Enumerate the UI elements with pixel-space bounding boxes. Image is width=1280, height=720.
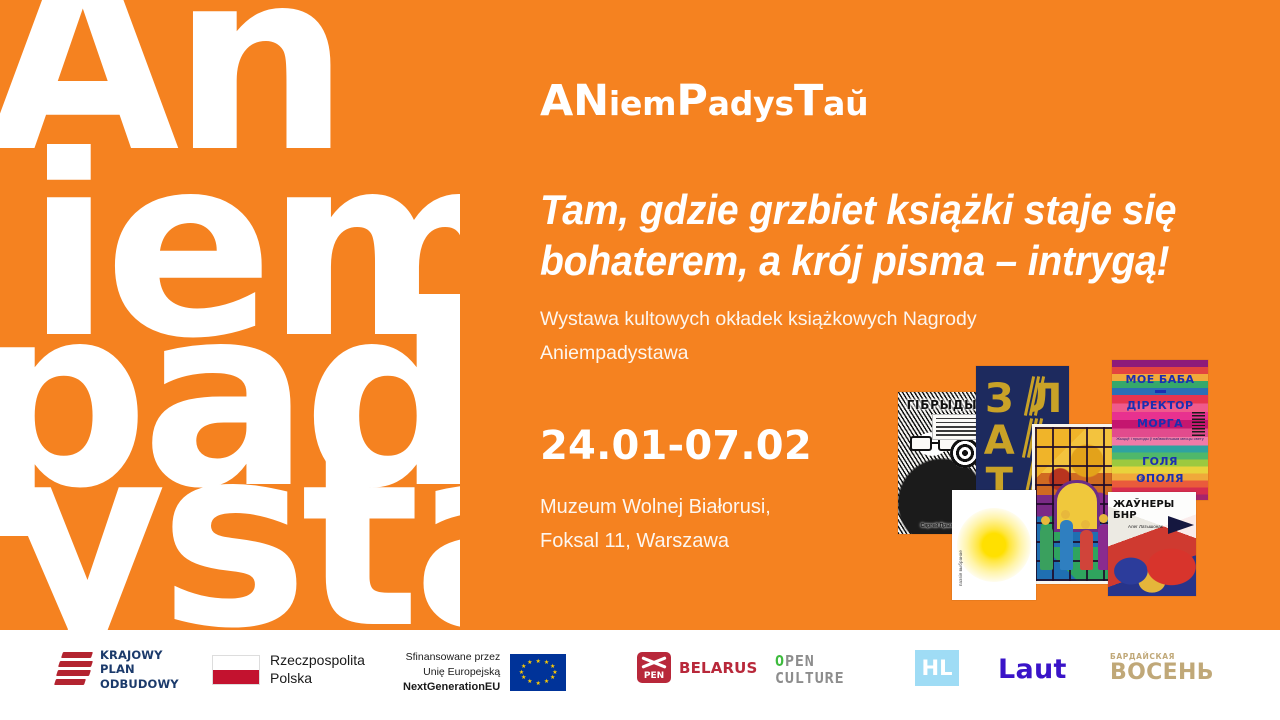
book-cover-moe-baba: МОЕ БАБА ДІРЕКТОР МОРГА Жыццё і прыгоды … xyxy=(1112,360,1208,500)
pen-mark-label: PEN xyxy=(637,671,671,681)
logo-rzeczpospolita-polska: Rzeczpospolita Polska xyxy=(212,652,365,688)
brand-part-2: iem xyxy=(609,84,676,123)
glasses-left-lens xyxy=(910,436,932,451)
figure-head-4 xyxy=(1099,514,1108,523)
book-cover-collage: ГІБРЫДЫ Сяргей Прылуцкі З Л А xyxy=(890,360,1220,620)
brand-part-6: T xyxy=(794,76,823,126)
logo-krajowy-plan-odbudowy: KRAJOWY PLAN ODBUDOWY xyxy=(55,648,179,691)
laut-label: Laut xyxy=(998,654,1067,685)
moe-baba-title-line-2: ДІРЕКТОР xyxy=(1112,399,1208,412)
eu-star-icon: ★ xyxy=(527,679,532,685)
eu-star-icon: ★ xyxy=(550,675,555,681)
figure-2 xyxy=(1060,520,1073,570)
moe-baba-author-line-2: ОПОЛЯ xyxy=(1112,472,1208,485)
brand-part-1: AN xyxy=(540,76,609,126)
eu-star-icon: ★ xyxy=(536,659,541,665)
cover-blurb-block xyxy=(932,414,982,440)
pen-quill-icon: PEN xyxy=(637,652,671,683)
poster-root: An iem pad ystaŭ ANiemPadysTaŭ Tam, gdzi… xyxy=(0,0,1280,720)
hl-label: HL xyxy=(915,650,959,686)
eu-star-icon: ★ xyxy=(521,675,526,681)
hl-icon: HL xyxy=(915,650,959,686)
bv-label: БАРДАЙСКАЯ ВОСЕНЬ xyxy=(1110,652,1214,684)
glasses-bridge xyxy=(932,442,940,444)
brand-logo: ANiemPadysTaŭ xyxy=(540,76,868,126)
eu-star-icon: ★ xyxy=(527,660,532,666)
brand-part-7: aŭ xyxy=(823,84,868,123)
kpo-building-icon xyxy=(55,652,91,686)
headline: Tam, gdzie grzbiet książki staje się boh… xyxy=(540,184,1200,286)
eu-star-icon: ★ xyxy=(521,664,526,670)
pen-belarus-label: BELARUS xyxy=(679,659,757,677)
kpo-label: KRAJOWY PLAN ODBUDOWY xyxy=(100,648,179,691)
bnr-title-line-2: БНР xyxy=(1113,510,1192,521)
oc-o-letter: O xyxy=(775,652,785,670)
moe-baba-blurb: Жыццё і прыгоды ў найвясёлшым месцы свет… xyxy=(1112,436,1208,442)
eu-star-icon: ★ xyxy=(544,679,549,685)
book-cover-zhaunery-bnr: ЖАЎНЕРЫ БНР Алег Латышонак xyxy=(1108,492,1196,596)
background-typography: An iem pad ystaŭ xyxy=(0,0,460,630)
kpo-line-1: KRAJOWY xyxy=(100,648,179,662)
logo-open-culture: OPEN CULTURE xyxy=(775,653,845,687)
logo-european-union: Sfinansowane przez Unię Europejską NextG… xyxy=(403,650,566,695)
logo-hl: HL xyxy=(915,650,959,686)
kpo-line-2: PLAN xyxy=(100,662,179,676)
figure-3 xyxy=(1080,530,1093,570)
polish-flag-icon xyxy=(212,655,260,685)
eu-star-icon: ★ xyxy=(544,660,549,666)
oc-line-2: CULTURE xyxy=(775,670,845,687)
eu-line-2: Unię Europejską xyxy=(403,665,500,680)
oc-pen-letters: PEN xyxy=(785,652,815,670)
brand-part-4: ady xyxy=(708,84,775,123)
bnr-author: Алег Латышонак xyxy=(1128,524,1163,529)
figure-head-3 xyxy=(1081,520,1090,529)
orange-banner: An iem pad ystaŭ ANiemPadysTaŭ Tam, gdzi… xyxy=(0,0,1280,630)
barcode xyxy=(1192,412,1205,436)
eu-flag-icon: ★★★★★★★★★★★★ xyxy=(510,654,566,691)
brand-part-3: P xyxy=(676,76,707,126)
eu-star-icon: ★ xyxy=(519,670,524,676)
logo-pen-belarus: PEN BELARUS xyxy=(637,652,757,683)
figure-head-1 xyxy=(1041,516,1050,525)
rp-line-2: Polska xyxy=(270,670,365,688)
eu-line-3: NextGenerationEU xyxy=(403,680,500,696)
typo-line-4: ystaŭ xyxy=(4,440,460,630)
figure-head-2 xyxy=(1061,510,1070,519)
moe-baba-title-line-1: МОЕ БАБА xyxy=(1112,373,1208,386)
kpo-line-3: ODBUDOWY xyxy=(100,677,179,691)
headline-line-1: Tam, gdzie grzbiet książki staje się xyxy=(540,184,1200,235)
rp-line-1: Rzeczpospolita xyxy=(270,652,365,670)
sun-spine-text: паэзія выбранае xyxy=(957,506,969,586)
open-culture-label: OPEN CULTURE xyxy=(775,653,845,687)
eu-star-icon: ★ xyxy=(536,681,541,687)
logo-laut: Laut xyxy=(998,654,1067,685)
cover-title-hybrydy: ГІБРЫДЫ xyxy=(902,398,982,412)
title-dash xyxy=(1155,390,1166,393)
eu-line-1: Sfinansowane przez xyxy=(403,650,500,665)
figure-1 xyxy=(1040,526,1053,570)
zlatoe-letter-3: А xyxy=(976,422,1023,460)
moe-baba-author-line-1: ГОЛЯ xyxy=(1112,455,1208,468)
headline-line-2: bohaterem, a krój pisma – intrygą! xyxy=(540,235,1200,286)
zlatoe-letter-1: З xyxy=(976,380,1023,418)
oc-line-1: OPEN xyxy=(775,653,845,670)
event-dates: 24.01-07.02 xyxy=(540,423,812,469)
eu-label: Sfinansowane przez Unię Europejską NextG… xyxy=(403,650,500,695)
brand-part-5: s xyxy=(775,84,794,123)
book-cover-sun: паэзія выбранае xyxy=(952,490,1036,600)
logo-bardauskaya-vosen: БАРДАЙСКАЯ ВОСЕНЬ xyxy=(1110,652,1214,684)
bnr-title-line-1: ЖАЎНЕРЫ xyxy=(1113,499,1192,510)
rp-label: Rzeczpospolita Polska xyxy=(270,652,365,688)
letter-row-1: З Л xyxy=(976,380,1069,418)
content-column: ANiemPadysTaŭ Tam, gdzie grzbiet książki… xyxy=(540,0,1260,630)
bnr-title: ЖАЎНЕРЫ БНР xyxy=(1113,499,1192,521)
bv-big-label: ВОСЕНЬ xyxy=(1110,661,1214,684)
